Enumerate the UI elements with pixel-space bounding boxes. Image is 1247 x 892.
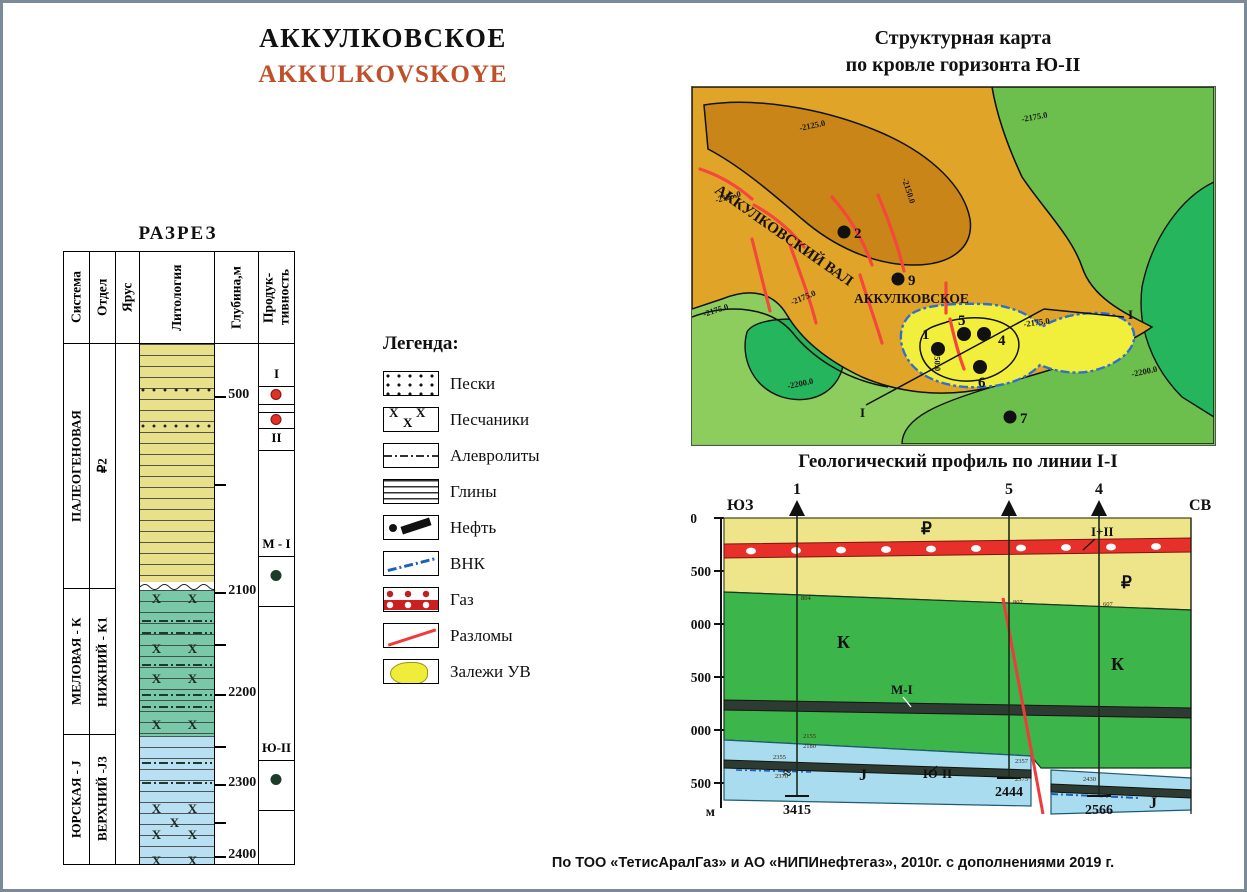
legend-item-deposit: Залежи УВ xyxy=(383,655,613,688)
field-title-english: AKKULKOVSKOYE xyxy=(173,61,593,89)
profile-depth-1500: -1500 xyxy=(691,670,711,685)
legend-label-gas: Газ xyxy=(450,590,474,610)
legend-item-gas: Газ xyxy=(383,583,613,616)
profile-direction-sw: ЮЗ xyxy=(727,497,754,514)
legend-label-sand: Пески xyxy=(450,374,495,394)
clay-pattern-icon xyxy=(383,479,439,504)
profile-note-2155: 2155 xyxy=(803,733,816,740)
legend-item-siltstone: Алевролиты xyxy=(383,439,613,472)
svg-text:6: 6 xyxy=(978,375,986,391)
legend-label-siltstone: Алевролиты xyxy=(450,446,540,466)
gas-symbol-icon xyxy=(383,587,439,612)
geological-profile[interactable]: 0 -500 -1000 -1500 -2000 -2500 м ЮЗ СВ xyxy=(691,478,1221,846)
profile-title: Геологический профиль по линии I-I xyxy=(703,451,1213,473)
stratigraphic-column: Система Отдел Ярус Литология Глубина,м П… xyxy=(63,251,295,864)
lithology-paleogene xyxy=(140,344,214,582)
profile-note-2375: 2375 xyxy=(1015,776,1028,783)
infographic-page: АККУЛКОВСКОЕ AKKULKOVSKOYE РАЗРЕЗ Систем… xyxy=(0,0,1247,892)
oil-symbol-icon xyxy=(383,515,439,540)
unconformity-wave xyxy=(140,582,214,590)
header-lithology: Литология xyxy=(139,252,214,344)
legend-item-sand: Пески xyxy=(383,367,613,400)
owc-line-icon xyxy=(383,551,439,576)
svg-text:9: 9 xyxy=(908,273,916,289)
system-jurassic: ЮРСКАЯ - J xyxy=(64,735,89,863)
profile-note-2180: 2180 xyxy=(803,743,816,750)
profile-depth-2000: -2000 xyxy=(691,723,711,738)
header-system: Система xyxy=(64,252,90,344)
sand-pattern-icon xyxy=(383,371,439,396)
svg-text:7: 7 xyxy=(1020,411,1028,427)
profile-note-807: 807 xyxy=(1013,599,1024,606)
sandstone-pattern-icon: X xyxy=(383,407,439,432)
section-label-I-right: I xyxy=(1128,307,1133,322)
depth-column: 500 2100 2200 2300 2400 xyxy=(215,344,259,865)
profile-well-bottom-1: 3415 xyxy=(783,803,811,818)
legend-label-clay: Глины xyxy=(450,482,497,502)
productivity-column: I II M - I Ю-II xyxy=(258,344,294,865)
header-stage: Ярус xyxy=(115,252,139,344)
system-paleogene: ПАЛЕОГЕНОВАЯ xyxy=(64,344,89,588)
profile-horizon-I-II: I+II xyxy=(1091,524,1114,539)
map-field-label: АККУЛКОВСКОЕ xyxy=(854,291,969,306)
section-label-I-left: I xyxy=(860,405,865,420)
profile-depth-1000: -1000 xyxy=(691,617,711,632)
division-j3: ВЕРХНИЙ -J3 xyxy=(90,735,115,863)
system-cretaceous: МЕЛОВАЯ - К xyxy=(64,589,89,734)
profile-direction-ne: СВ xyxy=(1189,497,1212,514)
gas-marker-I xyxy=(271,389,282,400)
productivity-label-YuII: Ю-II xyxy=(259,740,294,756)
profile-note-2355: 2355 xyxy=(773,754,786,761)
lithology-jurassic xyxy=(140,736,214,864)
profile-well-bottom-5: 2444 xyxy=(995,785,1023,800)
depth-label-500: 500 xyxy=(228,387,249,403)
legend-label-fault: Разломы xyxy=(450,626,513,646)
profile-note-2430: 2430 xyxy=(1083,776,1096,783)
profile-horizon-M-I: M-I xyxy=(891,682,913,697)
map-title-line2: по кровле горизонта Ю-II xyxy=(763,52,1163,79)
header-depth: Глубина,м xyxy=(215,252,259,344)
profile-horizon-Yu-II: Ю-II xyxy=(923,766,952,781)
map-title: Структурная карта по кровле горизонта Ю-… xyxy=(763,25,1163,79)
system-column: ПАЛЕОГЕНОВАЯ МЕЛОВАЯ - К ЮРСКАЯ - J xyxy=(64,344,90,865)
division-k1: НИЖНИЙ - К1 xyxy=(90,589,115,734)
oil-marker-MI xyxy=(271,570,282,581)
legend-item-owc: ВНК xyxy=(383,547,613,580)
map-title-line1: Структурная карта xyxy=(763,25,1163,52)
profile-well-header-4: 4 xyxy=(1095,481,1103,498)
legend-label-sandstone: Песчаники xyxy=(450,410,529,430)
profile-depth-500: -500 xyxy=(691,564,711,579)
depth-label-2200: 2200 xyxy=(228,685,256,701)
profile-formation-jurassic-right: J xyxy=(1149,795,1157,812)
legend-item-clay: Глины xyxy=(383,475,613,508)
profile-formation-cretaceous-left: К xyxy=(837,632,850,652)
division-column: ₽2 НИЖНИЙ - К1 ВЕРХНИЙ -J3 xyxy=(89,344,115,865)
section-title-razrez: РАЗРЕЗ xyxy=(63,223,293,245)
productivity-label-MI: M - I xyxy=(259,536,294,552)
legend-item-sandstone: X Песчаники xyxy=(383,403,613,436)
profile-axis-unit: м xyxy=(706,804,715,819)
profile-note-2357: 2357 xyxy=(1015,758,1029,765)
oil-marker-YuII xyxy=(271,774,282,785)
productivity-label-II: II xyxy=(259,430,294,446)
profile-depth-0: 0 xyxy=(691,511,697,526)
lithology-cretaceous xyxy=(140,590,214,736)
header-productivity: Продук-тивность xyxy=(258,252,294,344)
legend-label-oil: Нефть xyxy=(450,518,496,538)
depth-label-2100: 2100 xyxy=(228,583,256,599)
legend-title: Легенда: xyxy=(383,333,613,355)
profile-formation-paleogene-left: ₽ xyxy=(921,519,932,538)
profile-formation-paleogene-right: ₽ xyxy=(1121,573,1132,592)
svg-text:5: 5 xyxy=(958,313,966,329)
profile-formation-jurassic-left: J xyxy=(859,767,867,784)
siltstone-pattern-icon xyxy=(383,443,439,468)
svg-text:4: 4 xyxy=(998,333,1006,349)
legend: Легенда: Пески X Песчаники Алевролиты Гл… xyxy=(383,333,613,691)
header-division: Отдел xyxy=(89,252,115,344)
legend-item-fault: Разломы xyxy=(383,619,613,652)
depth-label-2300: 2300 xyxy=(228,775,256,791)
profile-note-607: 607 xyxy=(1103,601,1114,608)
svg-text:2: 2 xyxy=(854,226,862,242)
productivity-label-I: I xyxy=(259,366,294,382)
profile-depth-2500: -2500 xyxy=(691,776,711,791)
profile-note-804: 804 xyxy=(801,595,812,602)
legend-item-oil: Нефть xyxy=(383,511,613,544)
fault-line-icon xyxy=(383,623,439,648)
stage-column xyxy=(115,344,139,865)
legend-label-deposit: Залежи УВ xyxy=(450,662,531,682)
profile-well-bottom-4: 2566 xyxy=(1085,803,1113,818)
svg-text:1: 1 xyxy=(922,327,930,343)
profile-formation-cretaceous-right: К xyxy=(1111,654,1124,674)
profile-well-header-1: 1 xyxy=(793,481,801,498)
structural-map[interactable]: I I -2125.0 -2125.0 -2150.0 -2175.0 -217… xyxy=(691,86,1216,446)
hydrocarbon-deposit-icon xyxy=(383,659,439,684)
legend-label-owc: ВНК xyxy=(450,554,485,574)
depth-label-2400: 2400 xyxy=(228,847,256,863)
division-p2: ₽2 xyxy=(90,344,115,588)
profile-well-header-5: 5 xyxy=(1005,481,1013,498)
gas-marker-II xyxy=(271,414,282,425)
profile-note-2370: 2370 xyxy=(775,773,788,780)
field-title-russian: АККУЛКОВСКОЕ xyxy=(173,23,593,54)
footer-credit: По ТОО «ТетисАралГаз» и АО «НИПИнефтегаз… xyxy=(433,855,1233,871)
lithology-column xyxy=(139,344,214,865)
